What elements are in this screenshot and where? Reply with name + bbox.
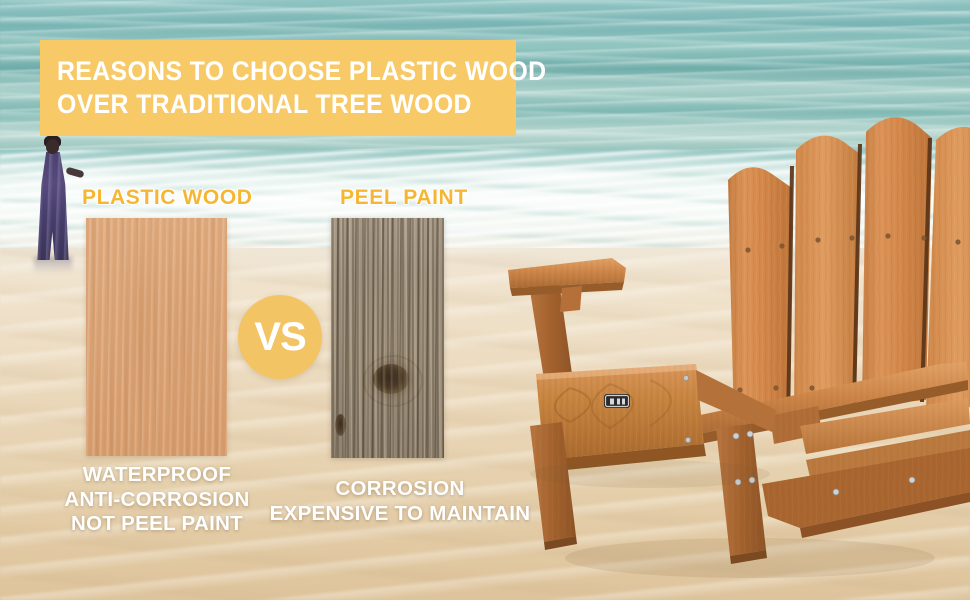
chair-armrest-left — [508, 258, 626, 312]
plastic-caption-line-2: ANTI-CORROSION — [54, 488, 260, 513]
headline-line-2: OVER TRADITIONAL TREE WOOD — [57, 88, 479, 121]
vs-label: VS — [254, 317, 305, 357]
plastic-caption-line-3: NOT PEEL PAINT — [54, 512, 260, 537]
wood-knot-small-icon — [335, 414, 346, 436]
headline-line-1: REASONS TO CHOOSE PLASTIC WOOD — [57, 55, 479, 88]
vs-badge: VS — [238, 295, 322, 379]
peel-caption-line-1: CORROSION — [268, 477, 532, 502]
plastic-caption-line-1: WATERPROOF — [54, 463, 260, 488]
person-dress — [36, 152, 70, 260]
wood-knot-icon — [373, 364, 409, 394]
plastic-wood-label: PLASTIC WOOD — [82, 186, 253, 210]
weathered-wood-swatch — [331, 218, 444, 458]
headline-banner: REASONS TO CHOOSE PLASTIC WOOD OVER TRAD… — [40, 40, 516, 136]
person-arm — [65, 167, 84, 179]
person-wading-in-surf — [18, 135, 88, 270]
plastic-wood-caption: WATERPROOF ANTI-CORROSION NOT PEEL PAINT — [54, 463, 260, 537]
adirondack-chair — [500, 88, 970, 588]
brand-badge — [604, 394, 630, 408]
peel-paint-caption: CORROSION EXPENSIVE TO MAINTAIN — [268, 477, 532, 526]
person-head — [46, 139, 59, 154]
product-marketing-image: REASONS TO CHOOSE PLASTIC WOOD OVER TRAD… — [0, 0, 970, 600]
peel-caption-line-2: EXPENSIVE TO MAINTAIN — [268, 502, 532, 527]
peel-paint-label: PEEL PAINT — [340, 186, 468, 210]
weathered-wood-shading — [331, 218, 444, 458]
plastic-wood-swatch — [86, 218, 227, 456]
